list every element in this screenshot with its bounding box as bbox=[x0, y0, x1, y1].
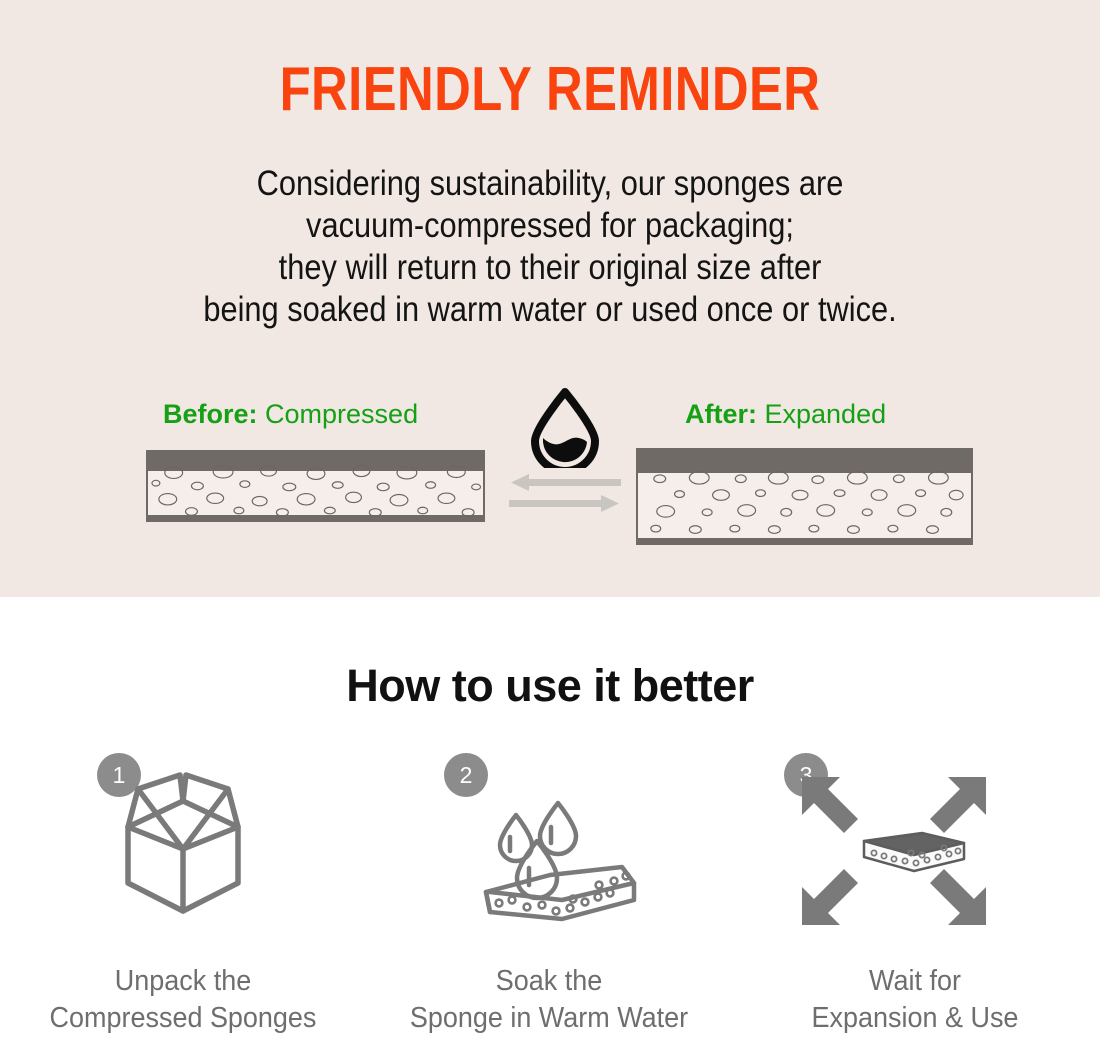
before-label: Before: Compressed bbox=[163, 399, 418, 429]
exchange-arrows bbox=[509, 473, 621, 515]
compressed-sponge-illustration bbox=[146, 450, 485, 522]
arrow-left-icon bbox=[511, 474, 621, 491]
step-item: 1 Unpack the Compressed Sponges bbox=[0, 745, 366, 1035]
expand-arrows-sponge-icon bbox=[794, 771, 994, 931]
after-label-rest: Expanded bbox=[757, 399, 886, 429]
page-title: FRIENDLY REMINDER bbox=[99, 55, 1001, 125]
instructions-panel: How to use it better 1 bbox=[0, 597, 1100, 1039]
sponge-pores bbox=[638, 450, 971, 543]
step-caption: Unpack the Compressed Sponges bbox=[0, 963, 366, 1037]
step-caption-line-2: Compressed Sponges bbox=[13, 1000, 353, 1037]
infographic-page: FRIENDLY REMINDER Considering sustainabi… bbox=[0, 0, 1100, 1039]
before-label-rest: Compressed bbox=[258, 399, 419, 429]
step-caption: Wait for Expansion & Use bbox=[732, 963, 1098, 1037]
step-caption-line-1: Unpack the bbox=[13, 963, 353, 1000]
after-label: After: Expanded bbox=[685, 399, 886, 429]
step-caption-line-1: Soak the bbox=[379, 963, 719, 1000]
reminder-line-1: Considering sustainability, our sponges … bbox=[66, 163, 1034, 205]
reminder-line-2: vacuum-compressed for packaging; bbox=[66, 205, 1034, 247]
step-caption: Soak the Sponge in Warm Water bbox=[366, 963, 732, 1037]
step-caption-line-1: Wait for bbox=[745, 963, 1085, 1000]
before-label-strong: Before: bbox=[163, 399, 258, 429]
reminder-line-3: they will return to their original size … bbox=[66, 247, 1034, 289]
arrow-down-left-icon bbox=[802, 869, 858, 925]
reminder-line-4: being soaked in warm water or used once … bbox=[66, 289, 1034, 331]
reminder-paragraph: Considering sustainability, our sponges … bbox=[0, 163, 1100, 331]
transition-group bbox=[505, 388, 625, 513]
arrow-up-right-icon bbox=[930, 777, 986, 833]
step-item: 3 bbox=[732, 745, 1098, 1035]
step-item: 2 bbox=[366, 745, 732, 1035]
section-title: How to use it better bbox=[0, 660, 1100, 712]
open-box-icon bbox=[108, 771, 258, 931]
after-label-strong: After: bbox=[685, 399, 757, 429]
water-drop-icon bbox=[527, 388, 603, 468]
arrow-down-right-icon bbox=[930, 869, 986, 925]
reminder-panel: FRIENDLY REMINDER Considering sustainabi… bbox=[0, 0, 1100, 597]
water-drops-over-sponge-icon bbox=[454, 771, 644, 936]
arrow-up-left-icon bbox=[802, 777, 858, 833]
expanded-sponge-illustration bbox=[636, 448, 973, 545]
arrow-right-icon bbox=[509, 495, 619, 512]
steps-row: 1 Unpack the Compressed Sponges bbox=[0, 745, 1100, 1035]
step-caption-line-2: Expansion & Use bbox=[745, 1000, 1085, 1037]
sponge-pores bbox=[148, 452, 483, 520]
step-caption-line-2: Sponge in Warm Water bbox=[379, 1000, 719, 1037]
